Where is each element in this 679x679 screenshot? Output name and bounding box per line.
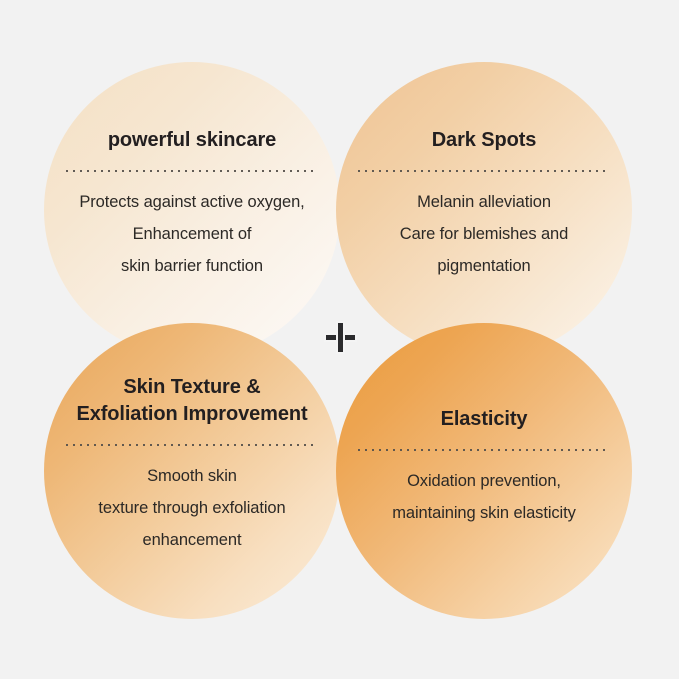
card-title: Dark Spots xyxy=(432,127,537,154)
benefit-card-powerful-skincare: powerful skincare Protects against activ… xyxy=(44,62,340,358)
card-body: Oxidation prevention, maintaining skin e… xyxy=(392,465,575,529)
skincare-benefits-infographic: powerful skincare Protects against activ… xyxy=(0,0,679,679)
card-content: Dark Spots Melanin alleviation Care for … xyxy=(346,127,622,282)
card-body: Smooth skin texture through exfoliation … xyxy=(98,460,285,556)
benefit-card-dark-spots: Dark Spots Melanin alleviation Care for … xyxy=(336,62,632,358)
plus-icon xyxy=(326,323,355,352)
card-title: Skin Texture & Exfoliation Improvement xyxy=(76,374,307,428)
card-body: Melanin alleviation Care for blemishes a… xyxy=(400,186,568,282)
dotted-divider xyxy=(358,449,610,451)
plus-icon-vertical-bar xyxy=(338,323,343,352)
dotted-divider xyxy=(66,170,318,172)
card-title: Elasticity xyxy=(441,406,528,433)
card-title: powerful skincare xyxy=(108,127,276,154)
benefit-card-elasticity: Elasticity Oxidation prevention, maintai… xyxy=(336,323,632,619)
dotted-divider xyxy=(66,444,318,446)
benefit-card-skin-texture-exfoliation: Skin Texture & Exfoliation Improvement S… xyxy=(44,323,340,619)
dotted-divider xyxy=(358,170,610,172)
card-content: Skin Texture & Exfoliation Improvement S… xyxy=(54,374,330,556)
card-body: Protects against active oxygen, Enhancem… xyxy=(79,186,304,282)
card-content: Elasticity Oxidation prevention, maintai… xyxy=(346,406,622,529)
card-content: powerful skincare Protects against activ… xyxy=(54,127,330,282)
